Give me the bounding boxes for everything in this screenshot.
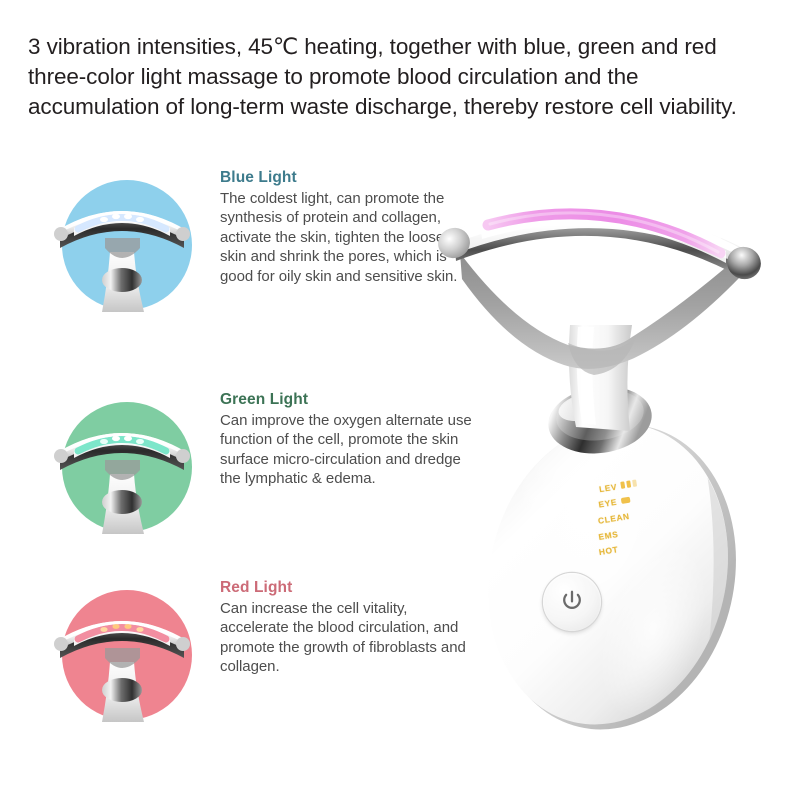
product-infographic: 3 vibration intensities, 45℃ heating, to… <box>0 0 800 800</box>
lev-indicator-bars <box>620 480 637 489</box>
thumbnail-green-light <box>48 398 196 546</box>
power-icon <box>559 589 585 615</box>
lev-bar-1 <box>620 482 625 490</box>
panel-label-hot: HOT <box>598 544 619 557</box>
device-body <box>459 399 766 754</box>
lev-bar-2 <box>626 481 631 489</box>
panel-label-eye: EYE <box>598 497 618 510</box>
device-stem <box>569 325 632 431</box>
mini-device-red <box>48 586 196 734</box>
device-illustration <box>418 175 800 775</box>
control-panel: LEV EYE CLEAN EMS HOT <box>588 469 691 560</box>
head-underside <box>460 253 740 375</box>
eye-indicator-dot <box>620 497 630 504</box>
mini-device-green <box>48 398 196 546</box>
thumbnail-blue-light <box>48 176 196 324</box>
power-button[interactable] <box>543 573 601 631</box>
header-description: 3 vibration intensities, 45℃ heating, to… <box>28 32 772 122</box>
main-product-image: LEV EYE CLEAN EMS HOT <box>418 175 800 775</box>
panel-label-ems: EMS <box>598 529 619 542</box>
thumbnail-red-light <box>48 586 196 734</box>
header-paragraph: 3 vibration intensities, 45℃ heating, to… <box>28 32 772 122</box>
mini-device-blue <box>48 176 196 324</box>
panel-label-lev: LEV <box>598 481 617 494</box>
lev-bar-3 <box>632 480 637 488</box>
